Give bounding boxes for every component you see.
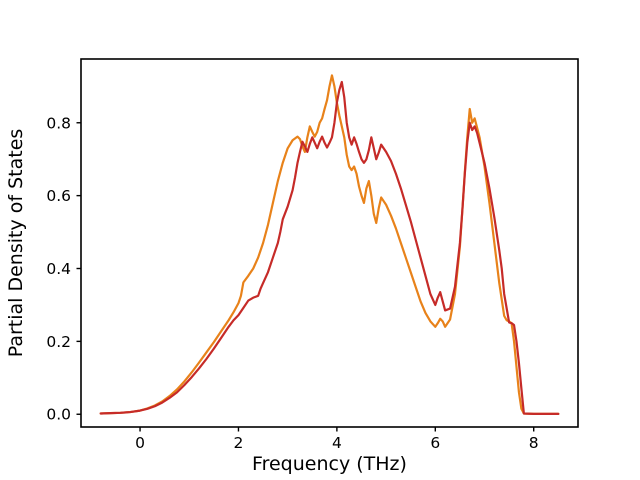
y-tick-label: 0.0 [46,406,71,424]
y-tick-label: 0.2 [46,333,71,351]
x-tick-label: 4 [332,434,342,452]
x-axis-label: Frequency (THz) [252,453,407,475]
y-tick-label: 0.8 [46,114,71,132]
axes-background [81,59,578,427]
y-tick-label: 0.4 [46,260,71,278]
x-tick-label: 8 [529,434,539,452]
y-tick-label: 0.6 [46,187,71,205]
x-tick-label: 0 [135,434,145,452]
x-tick-label: 2 [234,434,244,452]
y-axis-label: Partial Density of States [5,129,27,358]
x-tick-label: 6 [430,434,440,452]
plot-svg: 02468 0.00.20.40.60.8 Frequency (THz) Pa… [0,0,640,480]
figure-canvas: 02468 0.00.20.40.60.8 Frequency (THz) Pa… [0,0,640,480]
